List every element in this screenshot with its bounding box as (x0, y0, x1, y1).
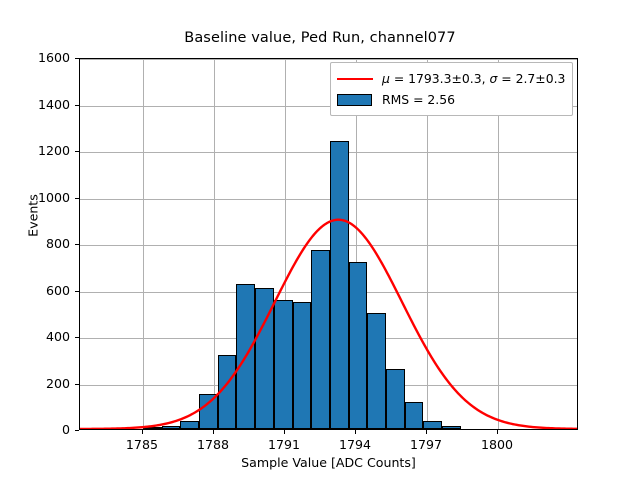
y-axis-tick (75, 337, 79, 338)
x-axis-label: Sample Value [ADC Counts] (79, 455, 578, 470)
y-axis-tick (75, 430, 79, 431)
x-axis-tick-label: 1800 (467, 437, 527, 452)
x-axis-tick (142, 430, 143, 434)
x-axis-tick (497, 430, 498, 434)
legend-entry-fit: μ = 1793.3±0.3, σ = 2.7±0.3 (337, 68, 565, 89)
y-axis-tick-label: 1200 (0, 143, 70, 158)
x-axis-tick-label: 1791 (254, 437, 314, 452)
y-axis-tick-label: 0 (0, 422, 70, 437)
legend-patch-key (337, 93, 373, 107)
mu-symbol: μ (382, 71, 390, 86)
legend-line-key (337, 72, 373, 86)
legend-label-rms: RMS = 2.56 (382, 92, 455, 107)
y-axis-tick-label: 200 (0, 376, 70, 391)
y-axis-tick (75, 244, 79, 245)
x-axis-tick (426, 430, 427, 434)
y-axis-tick (75, 58, 79, 59)
y-axis-tick-label: 1600 (0, 50, 70, 65)
y-axis-label: Events (26, 161, 41, 271)
y-axis-tick-label: 1400 (0, 97, 70, 112)
x-axis-tick-label: 1794 (325, 437, 385, 452)
page-title: Baseline value, Ped Run, channel077 (0, 30, 640, 46)
matplotlib-figure: Baseline value, Ped Run, channel077 0200… (0, 0, 640, 480)
legend-entry-histogram: RMS = 2.56 (337, 89, 565, 110)
y-axis-tick-label: 400 (0, 329, 70, 344)
y-axis-tick (75, 151, 79, 152)
x-axis-tick-label: 1788 (183, 437, 243, 452)
y-axis-tick (75, 198, 79, 199)
fit-sigma-text: = 2.7±0.3 (497, 71, 565, 86)
x-axis-tick (284, 430, 285, 434)
y-axis-tick (75, 384, 79, 385)
legend-label-fit: μ = 1793.3±0.3, σ = 2.7±0.3 (382, 71, 565, 86)
y-axis-tick-label: 600 (0, 283, 70, 298)
x-axis-tick-label: 1785 (112, 437, 172, 452)
y-axis-tick (75, 105, 79, 106)
x-axis-tick (213, 430, 214, 434)
fit-mu-text: = 1793.3±0.3, (390, 71, 490, 86)
legend: μ = 1793.3±0.3, σ = 2.7±0.3 RMS = 2.56 (330, 62, 573, 116)
y-axis-tick (75, 291, 79, 292)
x-axis-tick (355, 430, 356, 434)
x-axis-tick-label: 1797 (396, 437, 456, 452)
